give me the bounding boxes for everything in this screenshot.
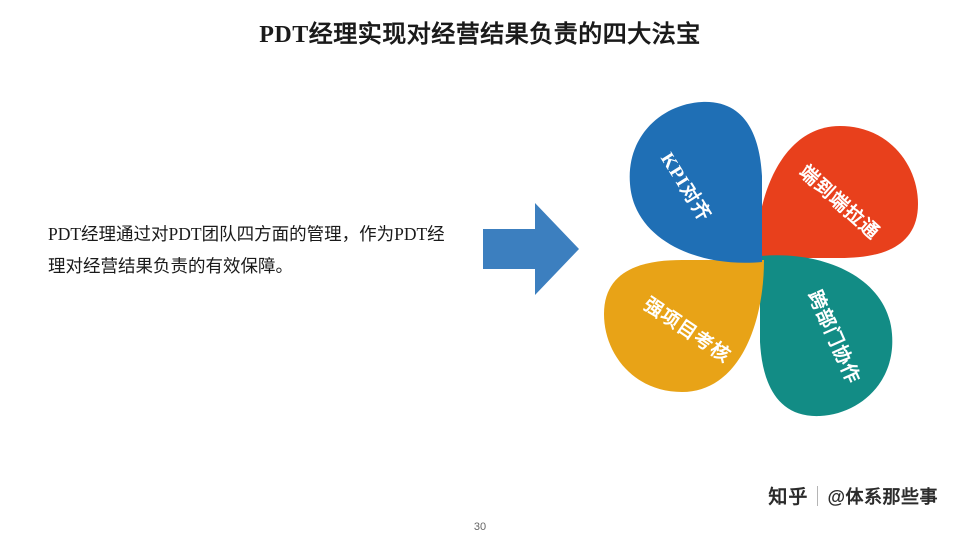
petal-left[interactable] xyxy=(630,102,762,263)
pinwheel-diagram: 端到端拉通 跨部门协作 强项目考核 KPI对齐 xyxy=(588,100,940,420)
slide-canvas: PDT经理实现对经营结果负责的四大法宝 PDT经理通过对PDT团队四方面的管理，… xyxy=(0,0,960,540)
watermark-divider xyxy=(817,486,818,506)
watermark: 知乎 @体系那些事 xyxy=(768,482,938,509)
body-paragraph: PDT经理通过对PDT团队四方面的管理，作为PDT经理对经营结果负责的有效保障。 xyxy=(48,218,448,282)
page-number: 30 xyxy=(0,521,960,533)
right-arrow-icon xyxy=(483,203,579,295)
watermark-author: @体系那些事 xyxy=(827,483,938,509)
zhihu-logo: 知乎 xyxy=(768,482,808,509)
page-title: PDT经理实现对经营结果负责的四大法宝 xyxy=(0,14,960,49)
